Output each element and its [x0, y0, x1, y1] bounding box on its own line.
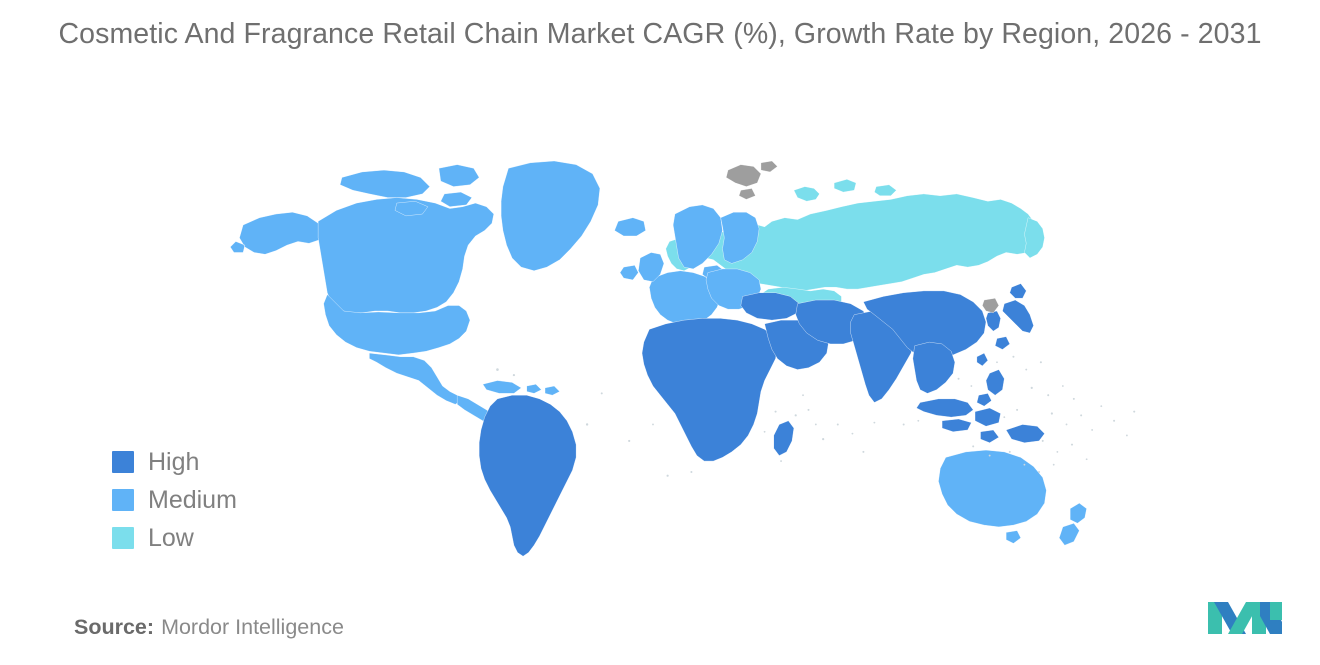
region-south-america[interactable]	[479, 395, 576, 556]
country-north-korea[interactable]	[982, 298, 998, 313]
country-japan[interactable]	[995, 284, 1033, 350]
country-papua-new-guinea[interactable]	[1006, 424, 1044, 442]
legend-label-low: Low	[148, 526, 194, 551]
region-caribbean[interactable]	[483, 381, 560, 396]
region-southeast-asia[interactable]	[913, 342, 955, 393]
source-label: Source:	[74, 615, 154, 639]
country-madagascar[interactable]	[774, 421, 794, 456]
mordor-intelligence-logo[interactable]	[1206, 596, 1284, 640]
legend-label-high: High	[148, 450, 199, 475]
legend: High Medium Low	[112, 450, 237, 550]
chart-page: Cosmetic And Fragrance Retail Chain Mark…	[0, 0, 1320, 665]
country-mexico[interactable]	[369, 353, 460, 404]
world-map-svg	[150, 150, 1220, 580]
country-united-kingdom[interactable]	[620, 252, 664, 281]
country-alaska[interactable]	[230, 212, 325, 254]
country-russia-kamchatka[interactable]	[1024, 218, 1044, 258]
legend-item-medium[interactable]: Medium	[112, 488, 237, 512]
legend-label-medium: Medium	[148, 488, 237, 513]
legend-item-high[interactable]: High	[112, 450, 237, 474]
region-philippines[interactable]	[977, 353, 1004, 406]
country-new-zealand[interactable]	[1059, 503, 1086, 545]
legend-swatch-high	[112, 451, 134, 473]
region-svalbard[interactable]	[726, 161, 777, 199]
country-greenland[interactable]	[501, 161, 600, 271]
world-map	[150, 150, 1220, 580]
region-turkey-caucasus[interactable]	[741, 293, 800, 320]
country-australia[interactable]	[938, 450, 1046, 527]
legend-swatch-medium	[112, 489, 134, 511]
country-south-korea[interactable]	[986, 311, 1001, 331]
map-small-islands	[496, 356, 1135, 477]
mi-logo-icon	[1206, 596, 1284, 640]
region-indonesia[interactable]	[916, 399, 1000, 443]
region-africa[interactable]	[642, 318, 777, 461]
source-line: Source:Mordor Intelligence	[74, 612, 344, 642]
legend-swatch-low	[112, 527, 134, 549]
legend-item-low[interactable]: Low	[112, 526, 237, 550]
country-iceland[interactable]	[615, 218, 646, 236]
region-tasmania[interactable]	[1006, 531, 1021, 544]
source-value: Mordor Intelligence	[161, 615, 344, 639]
country-russia-arctic-islands[interactable]	[794, 179, 896, 201]
page-title: Cosmetic And Fragrance Retail Chain Mark…	[40, 14, 1280, 55]
